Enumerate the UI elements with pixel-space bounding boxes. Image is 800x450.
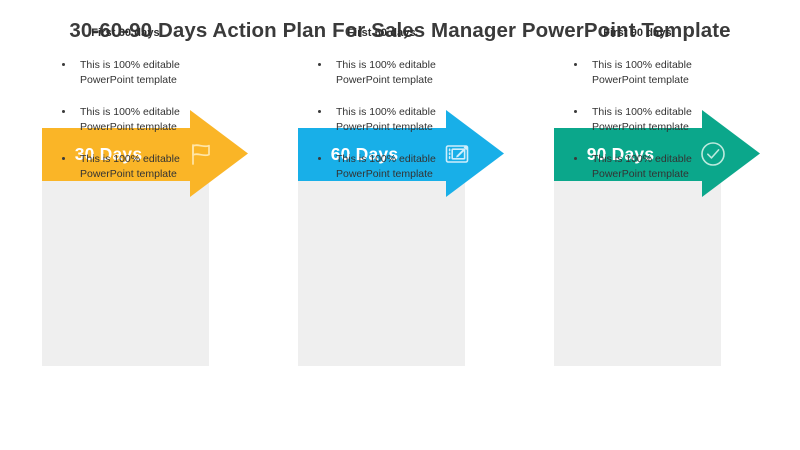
list-item-text: This is 100% editable PowerPoint templat…: [592, 58, 721, 87]
list-item: This is 100% editable PowerPoint templat…: [58, 58, 209, 87]
list-item: This is 100% editable PowerPoint templat…: [570, 58, 721, 87]
list-item: This is 100% editable PowerPoint templat…: [314, 152, 465, 181]
list-item-text: This is 100% editable PowerPoint templat…: [336, 105, 465, 134]
bullet-dot-icon: [318, 157, 321, 160]
column-30-days: 30 Days First 30 days This is 100% edita…: [42, 0, 272, 450]
list-item: This is 100% editable PowerPoint templat…: [570, 105, 721, 134]
list-item-text: This is 100% editable PowerPoint templat…: [80, 105, 209, 134]
list-item-text: This is 100% editable PowerPoint templat…: [336, 58, 465, 87]
bullet-dot-icon: [62, 157, 65, 160]
bullet-dot-icon: [62, 110, 65, 113]
bullet-dot-icon: [318, 110, 321, 113]
bullet-list-30-days: This is 100% editable PowerPoint templat…: [58, 58, 209, 181]
list-item: This is 100% editable PowerPoint templat…: [58, 152, 209, 181]
bullet-list-90-days: This is 100% editable PowerPoint templat…: [570, 58, 721, 181]
list-item-text: This is 100% editable PowerPoint templat…: [336, 152, 465, 181]
panel-heading-30-days: First 30 days: [42, 27, 209, 39]
list-item: This is 100% editable PowerPoint templat…: [570, 152, 721, 181]
content-panel-30-days: [42, 181, 209, 366]
list-item-text: This is 100% editable PowerPoint templat…: [592, 105, 721, 134]
list-item: This is 100% editable PowerPoint templat…: [314, 105, 465, 134]
list-item-text: This is 100% editable PowerPoint templat…: [80, 58, 209, 87]
content-panel-90-days: [554, 181, 721, 366]
bullet-dot-icon: [318, 63, 321, 66]
panel-heading-90-days: First 90 days: [554, 27, 721, 39]
content-panel-60-days: [298, 181, 465, 366]
slide-canvas: 30-60-90 Days Action Plan For Sales Mana…: [0, 0, 800, 450]
bullet-list-60-days: This is 100% editable PowerPoint templat…: [314, 58, 465, 181]
bullet-dot-icon: [574, 63, 577, 66]
bullet-dot-icon: [574, 110, 577, 113]
bullet-dot-icon: [574, 157, 577, 160]
list-item-text: This is 100% editable PowerPoint templat…: [80, 152, 209, 181]
column-90-days: 90 Days First 90 days This is 100% edita…: [554, 0, 784, 450]
list-item: This is 100% editable PowerPoint templat…: [58, 105, 209, 134]
column-60-days: 60 Days First 60 days This is 100% edita…: [298, 0, 528, 450]
panel-heading-60-days: First 60 days: [298, 27, 465, 39]
bullet-dot-icon: [62, 63, 65, 66]
list-item-text: This is 100% editable PowerPoint templat…: [592, 152, 721, 181]
list-item: This is 100% editable PowerPoint templat…: [314, 58, 465, 87]
